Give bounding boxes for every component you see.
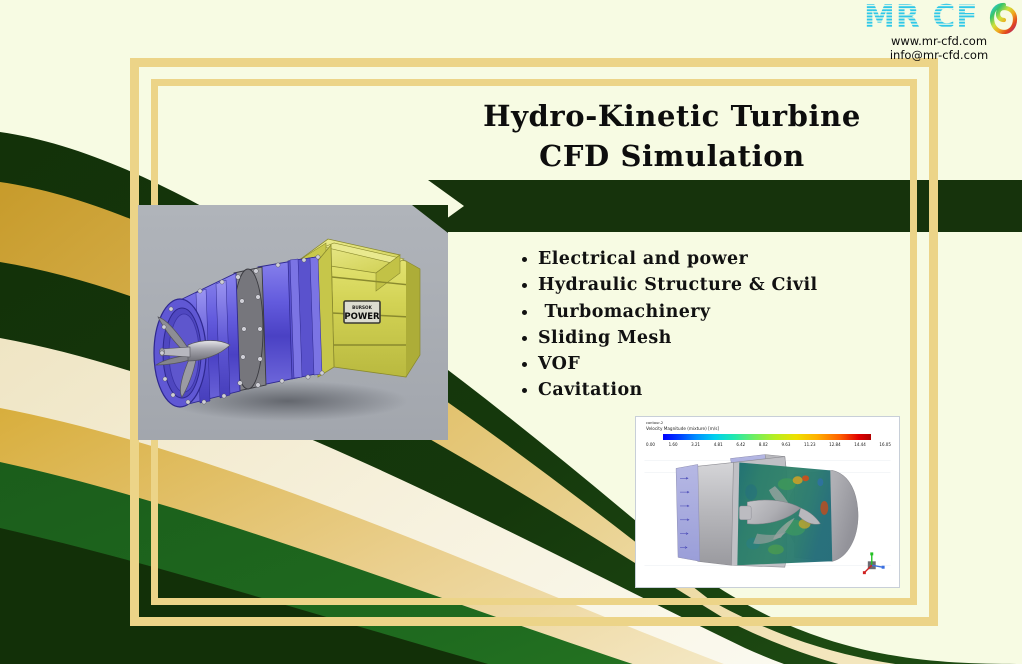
svg-text:POWER: POWER xyxy=(344,312,380,322)
svg-text:BURSOK: BURSOK xyxy=(352,305,372,310)
page-title: Hydro-Kinetic Turbine CFD Simulation xyxy=(452,96,892,176)
list-item: Cavitation xyxy=(512,377,818,403)
slide-canvas: Hydro-Kinetic Turbine CFD Simulation Ele… xyxy=(0,0,1022,664)
list-item: Electrical and power xyxy=(512,246,818,272)
brand-logo[interactable]: MR CF www.mr-cfd.com info@mr-cfd.com xyxy=(864,0,1020,62)
turbine-cad-drawing: BURSOK POWER xyxy=(138,205,448,440)
title-line-1: Hydro-Kinetic Turbine xyxy=(452,96,892,136)
list-item: VOF xyxy=(512,351,818,377)
title-line-2: CFD Simulation xyxy=(452,136,892,176)
logo-website[interactable]: www.mr-cfd.com xyxy=(864,34,1020,48)
list-item: Hydraulic Structure & Civil xyxy=(512,272,818,298)
cfd-geometry-drawing xyxy=(636,417,899,587)
axis-triad-icon xyxy=(863,552,885,574)
list-item: Sliding Mesh xyxy=(512,325,818,351)
list-item: Turbomachinery xyxy=(512,299,818,325)
turbine-cad-image: BURSOK POWER xyxy=(138,205,448,440)
cfd-contour-image: contour-2 Velocity Magnitude (mixture) [… xyxy=(635,416,900,588)
svg-text:MR CF: MR CF xyxy=(864,0,978,34)
colorbar xyxy=(663,434,871,440)
logo-email[interactable]: info@mr-cfd.com xyxy=(864,48,1020,62)
feature-list: Electrical and power Hydraulic Structure… xyxy=(512,246,818,404)
mr-cfd-logo-icon: MR CF xyxy=(864,0,1020,34)
banner-arrow xyxy=(428,180,1022,232)
